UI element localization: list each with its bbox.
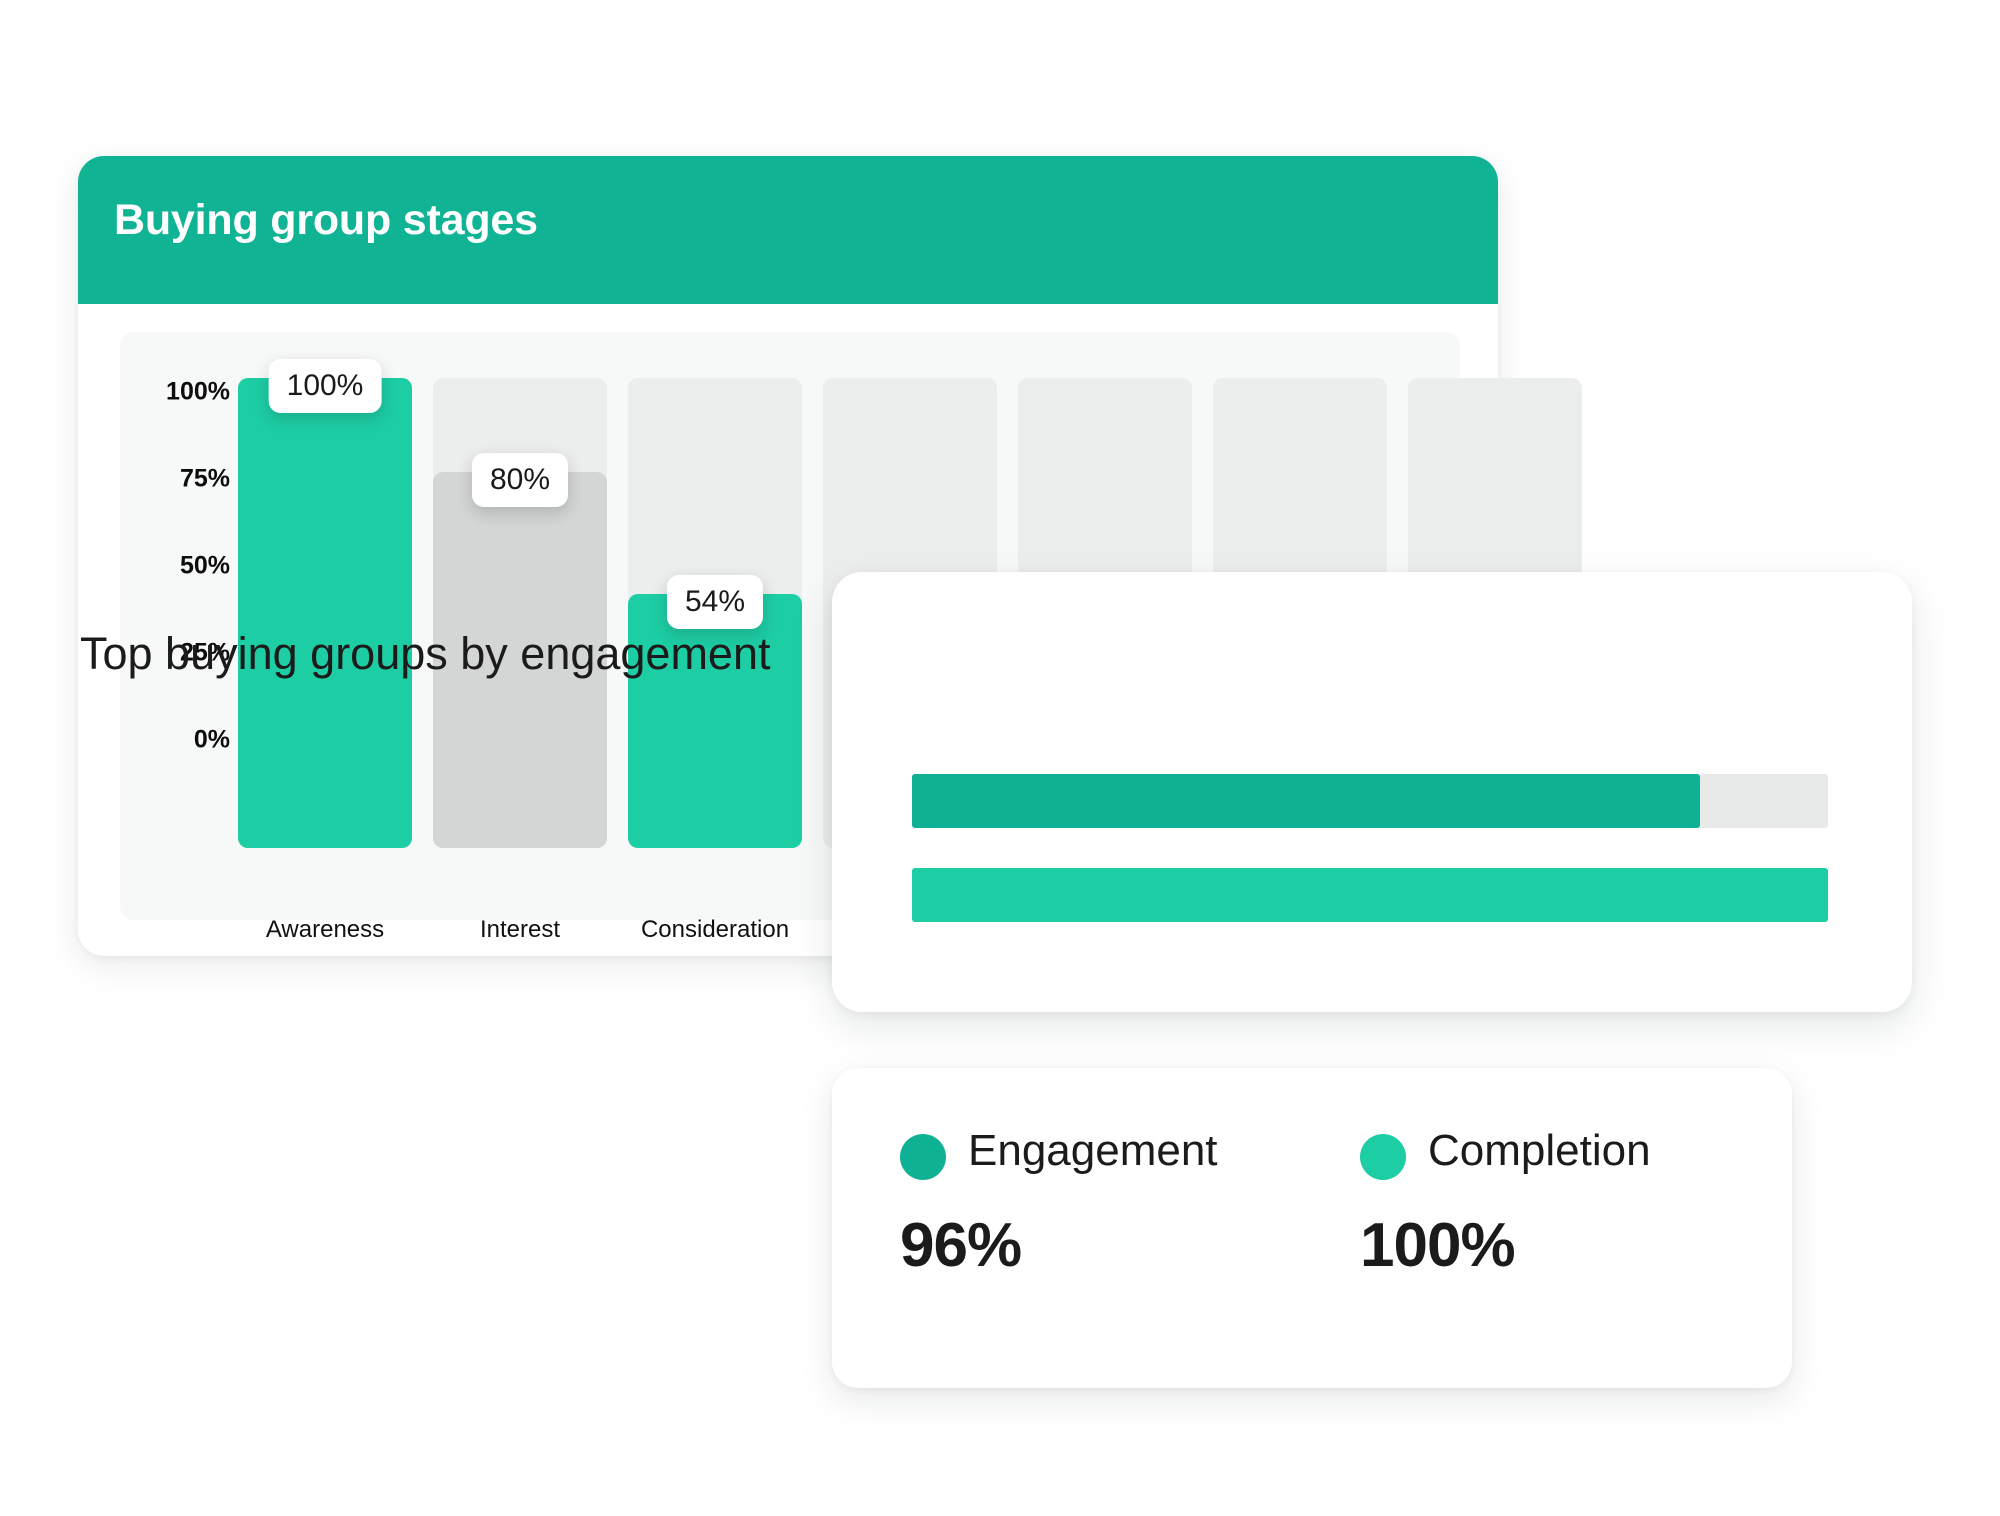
engagement-bar-track — [912, 774, 1828, 828]
engagement-bar-fill[interactable] — [912, 774, 1700, 828]
screen-root: Buying group stages 100% 75% 50% 25% 0% — [0, 0, 2000, 1516]
completion-bar-track — [912, 868, 1828, 922]
completion-stat-value: 100% — [1360, 1210, 1515, 1281]
x-label-awareness: Awareness — [238, 916, 412, 944]
stages-card-title: Buying group stages — [114, 196, 538, 245]
engagement-legend-dot-icon — [900, 1134, 946, 1180]
engagement-legend-label: Engagement — [968, 1126, 1218, 1176]
y-tick-75: 75% — [140, 465, 230, 494]
bar-label-consideration: 54% — [667, 575, 763, 629]
y-tick-0: 0% — [140, 726, 230, 755]
chart-y-axis: 100% 75% 50% 25% 0% — [134, 332, 230, 920]
bar-label-interest: 80% — [472, 453, 568, 507]
engagement-card-title: Top buying groups by engagement — [80, 628, 771, 680]
x-label-interest: Interest — [433, 916, 607, 944]
y-tick-100: 100% — [140, 378, 230, 407]
y-tick-50: 50% — [140, 552, 230, 581]
completion-legend-label: Completion — [1428, 1126, 1651, 1176]
bar-interest[interactable] — [433, 378, 607, 848]
bar-label-awareness: 100% — [269, 359, 382, 413]
x-label-consideration: Consideration — [628, 916, 802, 944]
bar-awareness[interactable] — [238, 378, 412, 848]
engagement-stat-value: 96% — [900, 1210, 1021, 1281]
completion-bar-fill[interactable] — [912, 868, 1828, 922]
completion-legend-dot-icon — [1360, 1134, 1406, 1180]
